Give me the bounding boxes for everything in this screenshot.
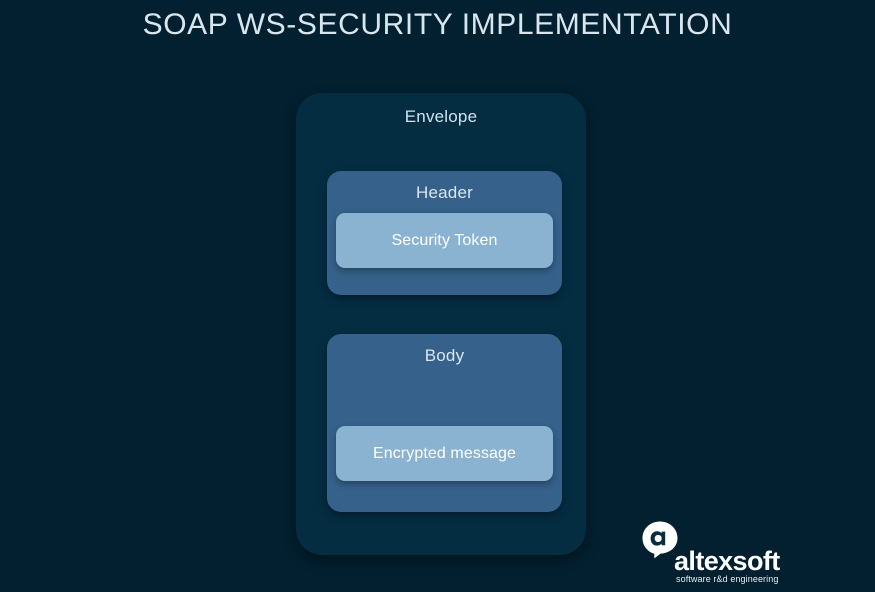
envelope-label: Envelope [296,107,586,127]
encrypted-message-label: Encrypted message [373,445,516,463]
header-section: Header Security Token [327,171,562,295]
logo-wordmark: altexsoft [674,548,780,575]
header-section-label: Header [327,183,562,203]
security-token-label: Security Token [391,232,497,250]
security-token-box: Security Token [336,213,553,268]
envelope-container: Envelope Header Security Token Body Encr… [296,93,586,555]
logo-tagline: software r&d engineering [676,575,778,584]
body-section-label: Body [327,346,562,366]
page-title: SOAP WS-SECURITY IMPLEMENTATION [0,8,875,42]
body-section: Body Encrypted message [327,334,562,512]
encrypted-message-box: Encrypted message [336,426,553,481]
altexsoft-logo: altexsoft software r&d engineering [640,521,780,583]
